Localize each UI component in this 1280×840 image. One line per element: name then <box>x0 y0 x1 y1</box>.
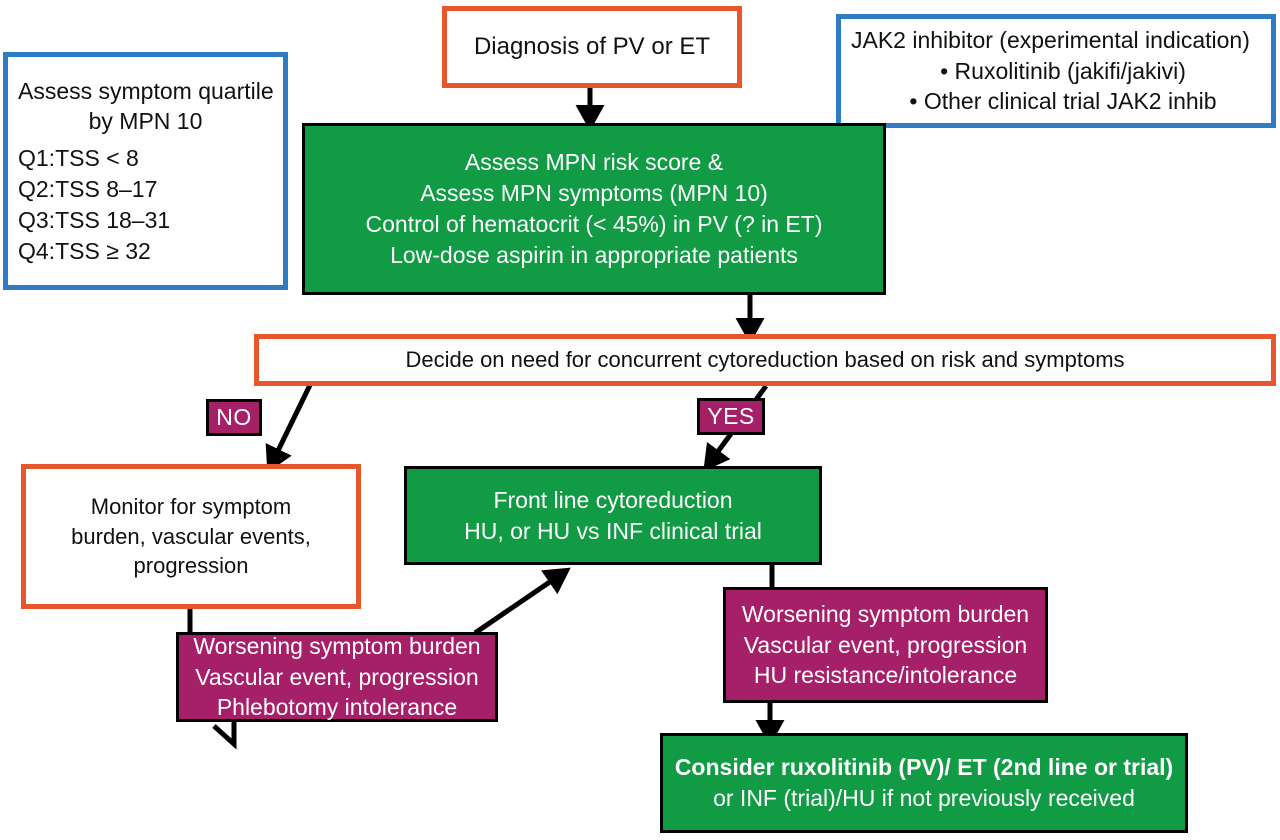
node-worsening-right-line-0: Worsening symptom burden <box>742 599 1029 630</box>
node-front-line-line-0: Front line cytoreduction <box>493 485 732 516</box>
node-monitor-line-0: Monitor for symptom <box>91 492 292 521</box>
node-consider-line-regular: or INF (trial)/HU if not previously rece… <box>713 783 1135 814</box>
node-assess-line-0: Assess MPN risk score & <box>465 147 723 178</box>
node-assess-line-2: Control of hematocrit (< 45%) in PV (? i… <box>366 209 823 240</box>
panel-symptom-quartile-title-0: Assess symptom quartile <box>18 76 273 107</box>
badge-yes[interactable]: YES <box>697 398 765 435</box>
node-diagnosis[interactable]: Diagnosis of PV or ET <box>442 6 742 88</box>
node-monitor-line-2: progression <box>134 551 249 580</box>
arrow-worsening-left-to-frontline <box>475 575 560 633</box>
badge-no[interactable]: NO <box>206 399 262 436</box>
quartile-item-q2: Q2:TSS 8–17 <box>18 174 273 205</box>
node-diagnosis-line-0: Diagnosis of PV or ET <box>474 31 710 63</box>
node-monitor[interactable]: Monitor for symptom burden, vascular eve… <box>21 464 361 609</box>
node-front-line-cytoreduction[interactable]: Front line cytoreduction HU, or HU vs IN… <box>404 466 822 565</box>
node-decide-cytoreduction[interactable]: Decide on need for concurrent cytoreduct… <box>254 334 1276 386</box>
panel-symptom-quartile[interactable]: Assess symptom quartile by MPN 10 Q1:TSS… <box>3 52 288 290</box>
node-front-line-line-1: HU, or HU vs INF clinical trial <box>464 516 762 547</box>
node-worsening-left-line-0: Worsening symptom burden <box>193 631 480 662</box>
quartile-item-q3: Q3:TSS 18–31 <box>18 205 273 236</box>
panel-jak2-heading: JAK2 inhibitor (experimental indication) <box>851 25 1261 56</box>
arrow-tail-worsening-left <box>214 721 234 744</box>
node-assess-mpn[interactable]: Assess MPN risk score & Assess MPN sympt… <box>302 123 886 295</box>
panel-symptom-quartile-title-1: by MPN 10 <box>18 106 273 137</box>
panel-jak2-inhibitor[interactable]: JAK2 inhibitor (experimental indication)… <box>836 14 1276 128</box>
node-consider-line-bold: Consider ruxolitinib (PV)/ ET (2nd line … <box>675 752 1173 783</box>
node-consider-ruxolitinib[interactable]: Consider ruxolitinib (PV)/ ET (2nd line … <box>660 733 1188 833</box>
node-monitor-line-1: burden, vascular events, <box>71 522 311 551</box>
node-worsening-right-line-2: HU resistance/intolerance <box>754 660 1017 691</box>
panel-jak2-bullet-1: • Other clinical trial JAK2 inhib <box>851 86 1261 117</box>
node-assess-line-1: Assess MPN symptoms (MPN 10) <box>420 178 768 209</box>
panel-jak2-bullet-0: • Ruxolitinib (jakifi/jakivi) <box>851 56 1261 87</box>
node-worsening-left-line-2: Phlebotomy intolerance <box>217 692 457 723</box>
flowchart-canvas: Diagnosis of PV or ET Assess symptom qua… <box>0 0 1280 840</box>
arrow-decide-to-monitor <box>273 385 310 461</box>
badge-no-label: NO <box>216 404 252 431</box>
node-worsening-right-line-1: Vascular event, progression <box>744 630 1027 661</box>
badge-yes-label: YES <box>707 403 755 430</box>
node-assess-line-3: Low-dose aspirin in appropriate patients <box>390 240 798 271</box>
node-worsening-left-line-1: Vascular event, progression <box>195 662 478 693</box>
node-worsening-left[interactable]: Worsening symptom burden Vascular event,… <box>176 632 498 722</box>
quartile-item-q1: Q1:TSS < 8 <box>18 143 273 174</box>
node-worsening-right[interactable]: Worsening symptom burden Vascular event,… <box>723 587 1048 703</box>
quartile-item-q4: Q4:TSS ≥ 32 <box>18 236 273 267</box>
node-decide-line-0: Decide on need for concurrent cytoreduct… <box>405 345 1124 374</box>
